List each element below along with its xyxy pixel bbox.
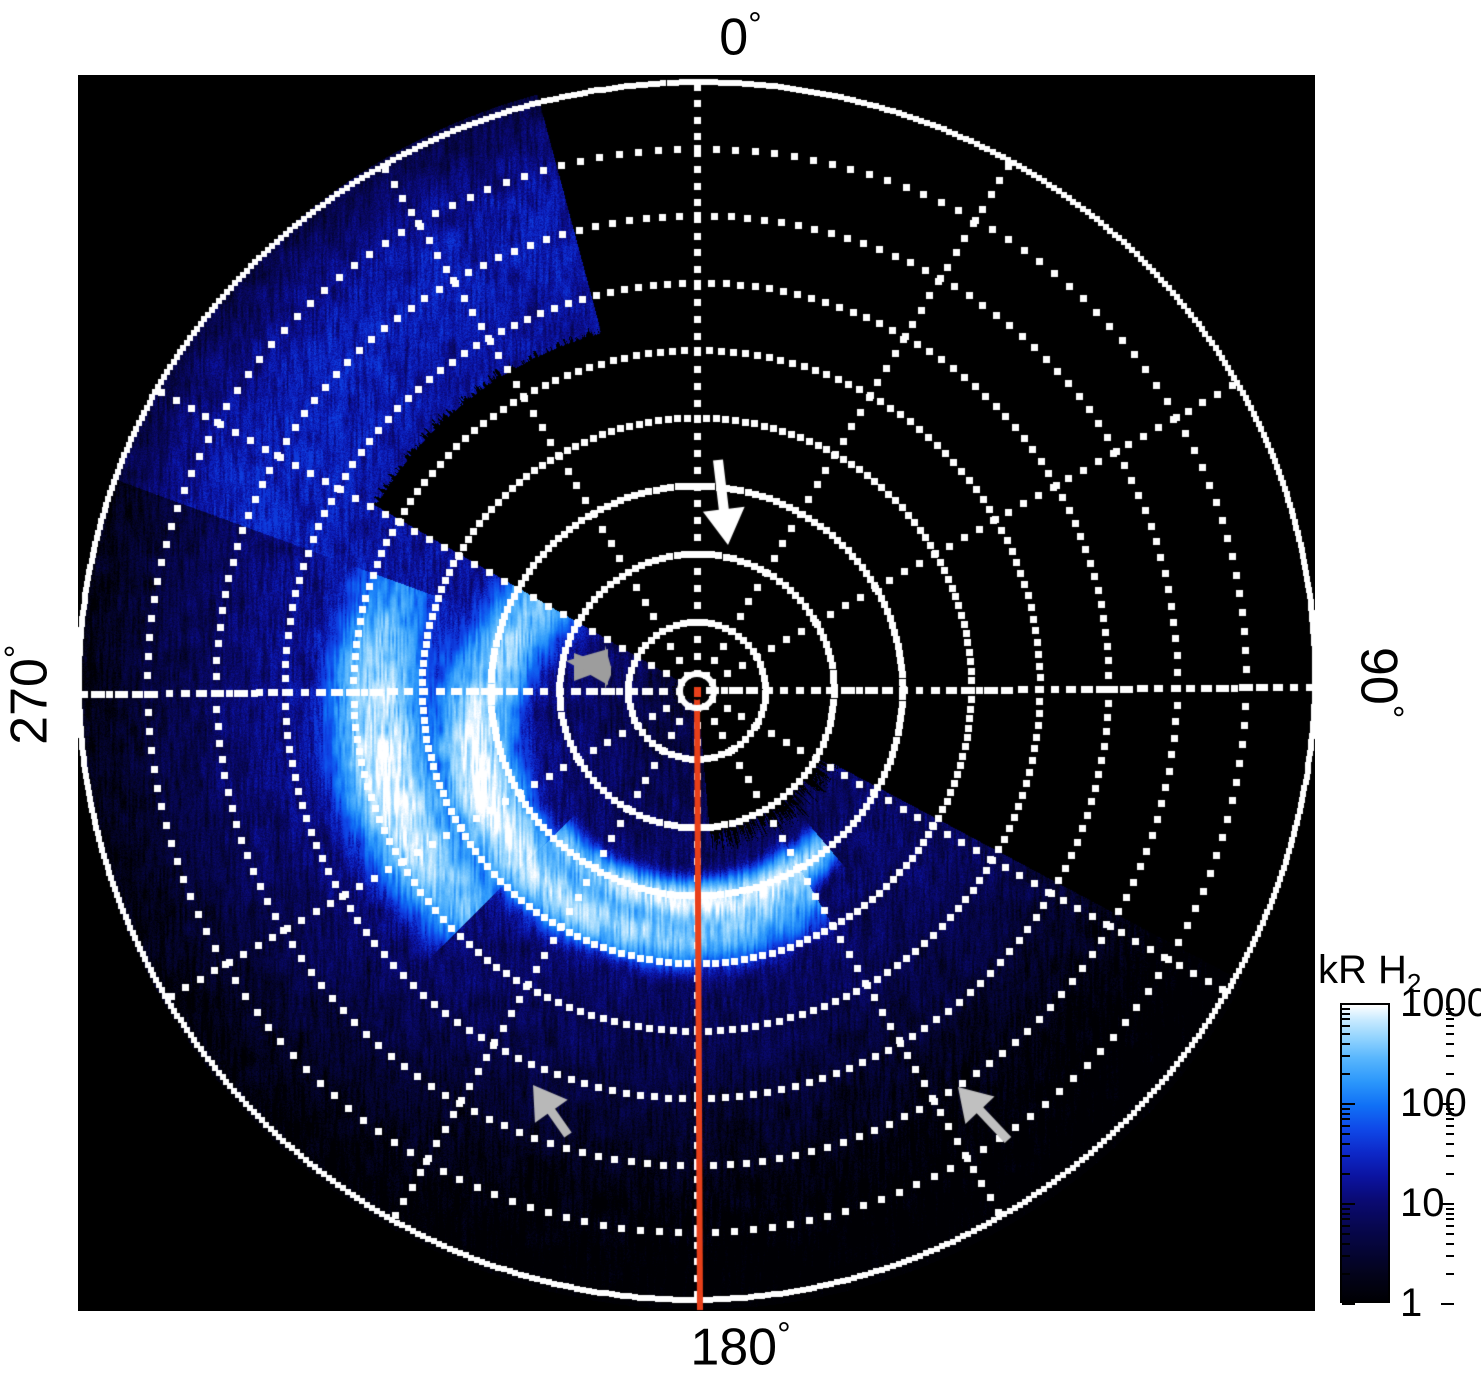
colorbar-tick: [1342, 1155, 1350, 1157]
colorbar-tick: [1342, 1218, 1350, 1220]
colorbar-tick: [1446, 1073, 1454, 1075]
colorbar-tick: [1342, 1055, 1350, 1057]
colorbar-tick-label: 1000: [1400, 983, 1481, 1023]
colorbar-tick: [1446, 1255, 1454, 1257]
colorbar-tick: [1446, 1243, 1454, 1245]
colorbar-tick: [1342, 1213, 1350, 1215]
colorbar-tick: [1342, 1025, 1350, 1027]
colorbar-tick: [1446, 1173, 1454, 1175]
colorbar-tick: [1446, 1143, 1454, 1145]
colorbar: kR H2 1000100101: [1318, 948, 1478, 1318]
colorbar-tick: [1342, 1173, 1350, 1175]
colorbar-tick: [1342, 1113, 1350, 1115]
colorbar-tick: [1441, 1303, 1454, 1305]
colorbar-tick: [1342, 1073, 1350, 1075]
axis-label-270-degrees: 270°: [0, 605, 55, 785]
colorbar-tick: [1342, 1103, 1355, 1105]
colorbar-tick: [1342, 1208, 1350, 1210]
colorbar-tick: [1342, 1118, 1350, 1120]
colorbar-gradient: [1340, 1003, 1390, 1303]
colorbar-tick: [1446, 1233, 1454, 1235]
colorbar-tick: [1342, 1108, 1350, 1110]
colorbar-tick-label: 1: [1400, 1283, 1422, 1323]
colorbar-tick: [1342, 1255, 1350, 1257]
polar-aurora-figure: 0° 180° 270° 90° kR H2 1000100101: [0, 0, 1481, 1386]
colorbar-tick: [1446, 1133, 1454, 1135]
colorbar-tick: [1342, 1125, 1350, 1127]
colorbar-tick: [1342, 1018, 1350, 1020]
axis-label-90-degrees: 90°: [1352, 593, 1407, 773]
colorbar-tick: [1446, 1043, 1454, 1045]
colorbar-tick: [1446, 1055, 1454, 1057]
colorbar-tick: [1446, 1025, 1454, 1027]
colorbar-tick: [1446, 1225, 1454, 1227]
colorbar-tick: [1342, 1203, 1355, 1205]
colorbar-tick: [1342, 1013, 1350, 1015]
colorbar-tick: [1446, 1213, 1454, 1215]
colorbar-tick: [1342, 1008, 1350, 1010]
polar-plot-panel: [78, 75, 1315, 1311]
colorbar-tick: [1342, 1003, 1355, 1005]
colorbar-tick-label: 100: [1400, 1083, 1467, 1123]
colorbar-tick: [1446, 1218, 1454, 1220]
aurora-image-canvas: [78, 75, 1315, 1311]
colorbar-tick: [1342, 1043, 1350, 1045]
axis-label-0-degrees: 0°: [0, 8, 1481, 63]
colorbar-tick-label: 10: [1400, 1183, 1445, 1223]
colorbar-tick: [1342, 1273, 1350, 1275]
axis-label-180-degrees: 180°: [0, 1318, 1481, 1373]
colorbar-tick: [1446, 1125, 1454, 1127]
colorbar-tick: [1342, 1143, 1350, 1145]
colorbar-tick: [1446, 1273, 1454, 1275]
colorbar-tick: [1446, 1155, 1454, 1157]
colorbar-tick: [1342, 1033, 1350, 1035]
colorbar-tick: [1342, 1133, 1350, 1135]
colorbar-tick: [1342, 1225, 1350, 1227]
colorbar-tick: [1342, 1233, 1350, 1235]
colorbar-tick: [1342, 1243, 1350, 1245]
colorbar-tick: [1446, 1033, 1454, 1035]
colorbar-tick: [1446, 1208, 1454, 1210]
colorbar-tick: [1342, 1303, 1355, 1305]
